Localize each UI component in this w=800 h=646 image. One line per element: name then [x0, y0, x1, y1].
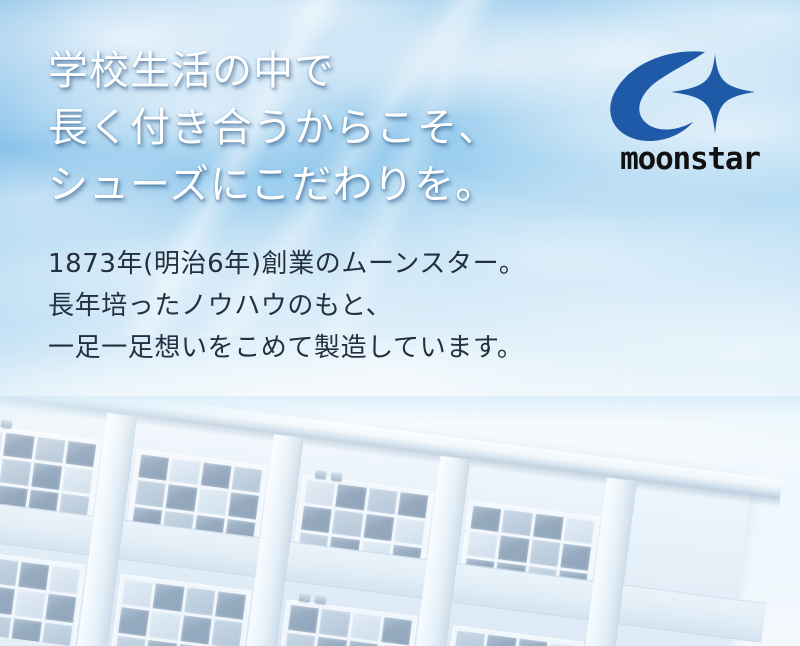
banner-copy: 学校生活の中で 長く付き合うからこそ、 シューズにこだわりを。 1873年(明治… [48, 42, 608, 369]
window-bay [109, 574, 252, 646]
moonstar-wordmark: moonstar [597, 142, 783, 176]
wall-vent-icon [1, 419, 13, 428]
headline-line-2: 長く付き合うからこそ、 [48, 99, 608, 156]
subcopy: 1873年(明治6年)創業のムーンスター。 長年培ったノウハウのもと、 一足一足… [48, 243, 608, 369]
wall-vent-icon [315, 595, 327, 604]
subcopy-line-2: 長年培ったノウハウのもと、 [48, 285, 608, 327]
hero-banner: 学校生活の中で 長く付き合うからこそ、 シューズにこだわりを。 1873年(明治… [0, 0, 800, 646]
school-building-photo [0, 396, 800, 646]
headline-line-1: 学校生活の中で [48, 42, 608, 99]
subcopy-line-3: 一足一足想いをこめて製造しています。 [48, 327, 608, 369]
headline-line-3: シューズにこだわりを。 [48, 156, 608, 213]
window-bay [441, 625, 584, 646]
wall-vent-icon [299, 593, 311, 602]
headline: 学校生活の中で 長く付き合うからこそ、 シューズにこだわりを。 [48, 42, 608, 213]
crescent-moon-and-star-icon [597, 46, 783, 142]
window-bay [0, 548, 86, 646]
subcopy-line-1: 1873年(明治6年)創業のムーンスター。 [48, 243, 608, 285]
wall-vent-icon [331, 472, 343, 481]
window-bay [275, 599, 418, 646]
moonstar-logo[interactable]: moonstar [597, 46, 783, 174]
building-facade [0, 396, 752, 646]
wall-vent-icon [315, 470, 327, 479]
